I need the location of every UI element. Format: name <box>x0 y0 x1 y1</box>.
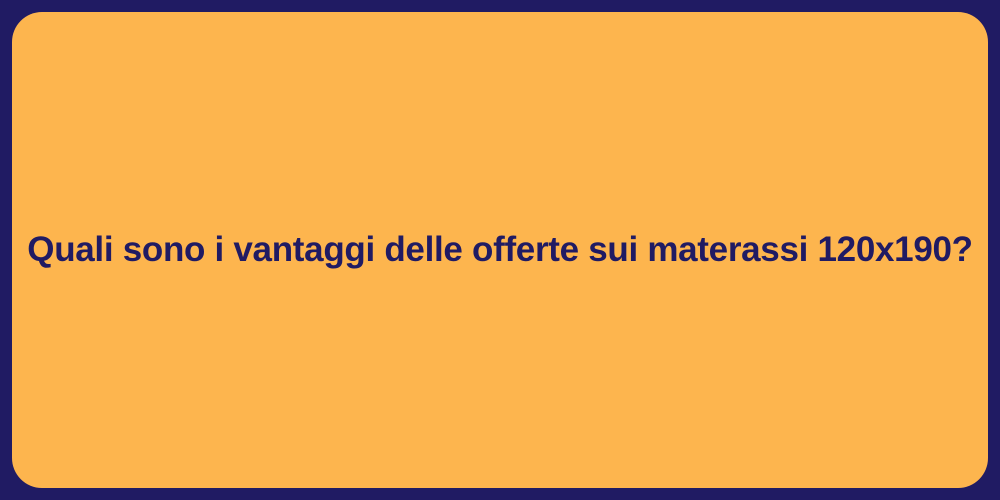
headline-question: Quali sono i vantaggi delle offerte sui … <box>27 228 972 272</box>
orange-card: Quali sono i vantaggi delle offerte sui … <box>12 12 988 488</box>
navy-frame: Quali sono i vantaggi delle offerte sui … <box>0 0 1000 500</box>
